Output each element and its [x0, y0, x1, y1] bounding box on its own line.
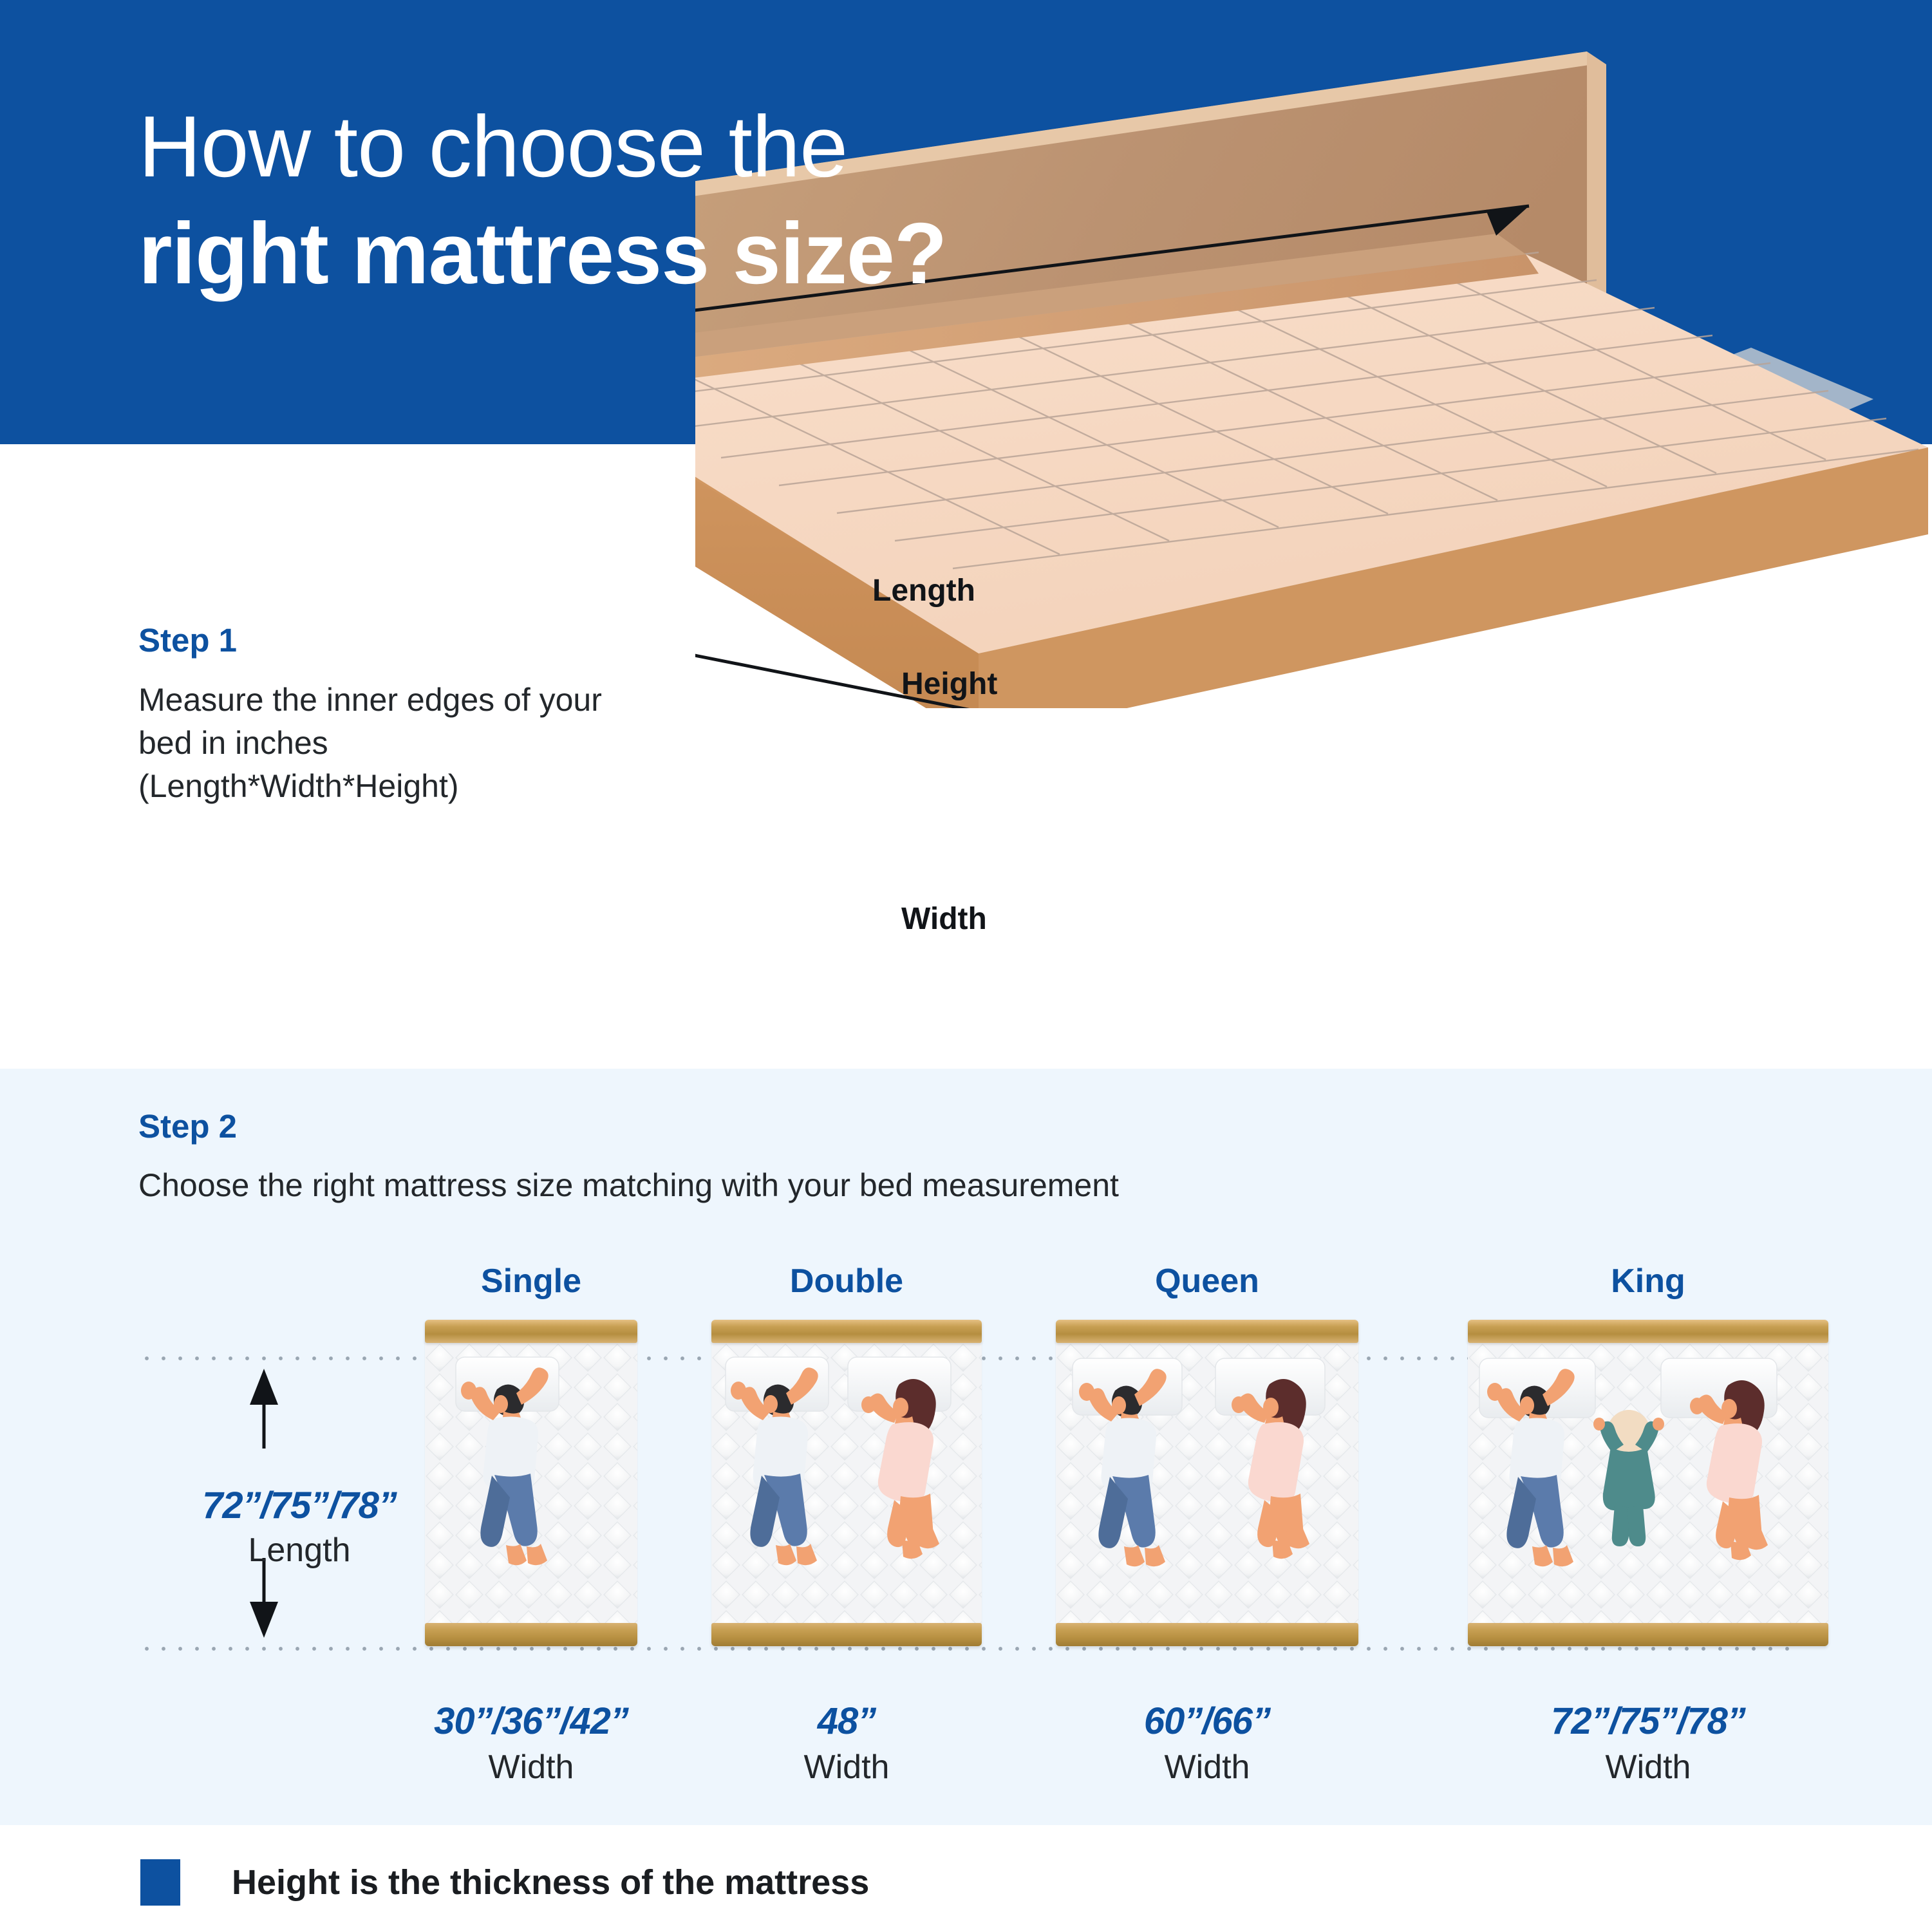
- width-caption-single: 30”/36”/42” Width: [393, 1700, 670, 1787]
- page-title: How to choose the right mattress size?: [138, 103, 1426, 299]
- legend-note-text: Height is the thickness of the mattress: [232, 1862, 869, 1902]
- step2-text-block: Step 2 Choose the right mattress size ma…: [138, 1107, 1119, 1206]
- size-label-queen: Queen: [1155, 1262, 1259, 1300]
- sleeper-figures-queen: [1056, 1343, 1358, 1623]
- width-value-double: 48”: [715, 1700, 979, 1743]
- width-value-king: 72”/75”/78”: [1471, 1700, 1825, 1743]
- length-arrow-down: [250, 1602, 278, 1638]
- width-caption-row: 30”/36”/42” Width 48” Width 60”/66” Widt…: [0, 1700, 1932, 1822]
- sleeper-figures-king: [1468, 1343, 1828, 1623]
- mattress-body-king: [1468, 1343, 1828, 1623]
- step2-body: Choose the right mattress size matching …: [138, 1165, 1119, 1206]
- figure-woman: [1690, 1380, 1768, 1560]
- figure-baby: [1593, 1410, 1664, 1546]
- length-measure-value: 72”/75”/78”: [138, 1484, 460, 1527]
- width-word-single: Width: [393, 1748, 670, 1787]
- legend-color-swatch: [140, 1859, 180, 1906]
- width-caption-double: 48” Width: [715, 1700, 979, 1787]
- width-word-double: Width: [715, 1748, 979, 1787]
- step1-section: Step 1 Measure the inner edges of your b…: [0, 444, 1932, 1069]
- step1-text-block: Step 1 Measure the inner edges of your b…: [138, 621, 641, 808]
- bed-width-label: Width: [901, 901, 987, 937]
- step1-label: Step 1: [138, 621, 641, 659]
- length-measure-group: 72”/75”/78” Length: [212, 1365, 521, 1642]
- size-label-king: King: [1611, 1262, 1685, 1300]
- title-line-1: How to choose the: [138, 103, 1426, 190]
- figure-woman: [1232, 1379, 1309, 1559]
- mattress-body-queen: [1056, 1343, 1358, 1623]
- step1-body: Measure the inner edges of your bed in i…: [138, 679, 641, 808]
- mattress-headboard-queen: [1056, 1320, 1358, 1343]
- size-label-single: Single: [481, 1262, 581, 1300]
- width-word-queen: Width: [1059, 1748, 1355, 1787]
- sleeper-figures-double: [711, 1343, 982, 1623]
- mattress-footboard-double: [711, 1623, 982, 1646]
- mattress-headboard-double: [711, 1320, 982, 1343]
- length-measure-word: Length: [138, 1531, 460, 1570]
- width-caption-king: 72”/75”/78” Width: [1471, 1700, 1825, 1787]
- mattress-footboard-queen: [1056, 1623, 1358, 1646]
- bed-height-label: Height: [901, 666, 997, 702]
- size-label-double: Double: [790, 1262, 903, 1300]
- mattress-body-double: [711, 1343, 982, 1623]
- mattress-headboard-king: [1468, 1320, 1828, 1343]
- length-arrow-up: [250, 1369, 278, 1405]
- mattress-headboard-single: [425, 1320, 637, 1343]
- width-caption-queen: 60”/66” Width: [1059, 1700, 1355, 1787]
- bed-length-label: Length: [872, 573, 975, 608]
- footer-note-bar: Height is the thickness of the mattress: [0, 1825, 1932, 1932]
- length-measure-text: 72”/75”/78” Length: [138, 1484, 460, 1570]
- width-value-single: 30”/36”/42”: [393, 1700, 670, 1743]
- title-line-2: right mattress size?: [138, 208, 1426, 299]
- mattress-footboard-king: [1468, 1623, 1828, 1646]
- width-value-queen: 60”/66”: [1059, 1700, 1355, 1743]
- step2-label: Step 2: [138, 1107, 1119, 1145]
- figure-woman: [861, 1379, 939, 1559]
- width-word-king: Width: [1471, 1748, 1825, 1787]
- infographic-page: How to choose the right mattress size? S…: [0, 0, 1932, 1932]
